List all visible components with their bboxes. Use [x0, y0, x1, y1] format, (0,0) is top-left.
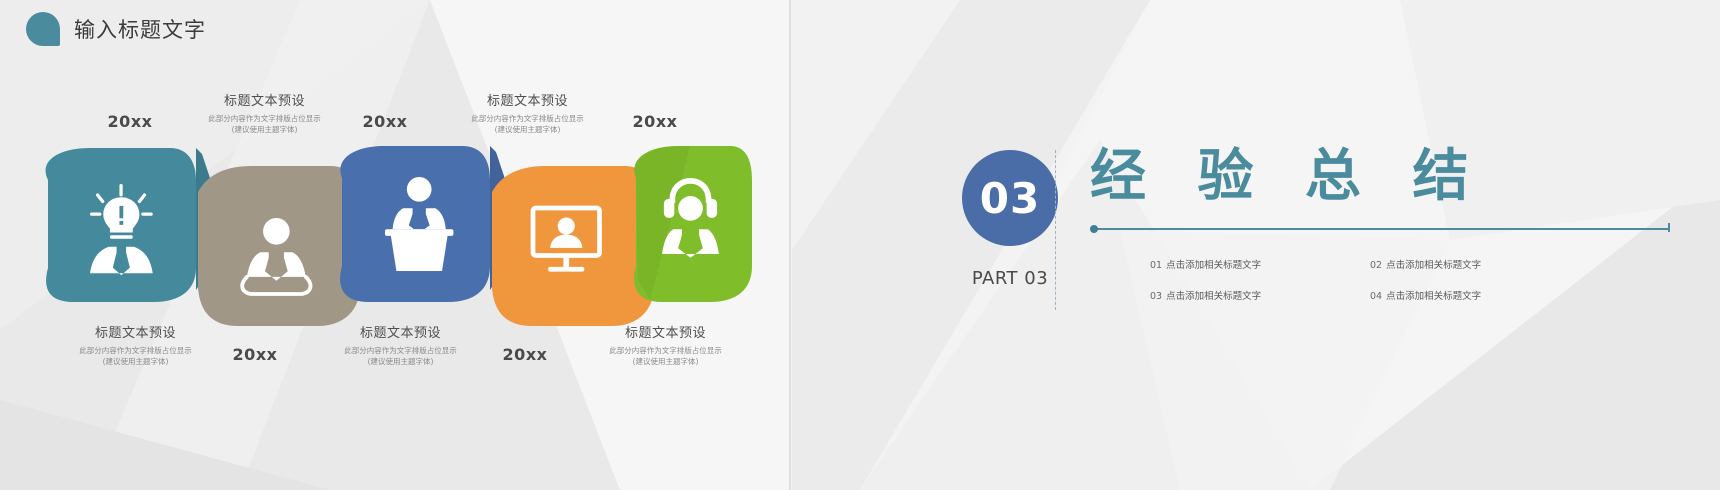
slide-header: 输入标题文字 — [26, 12, 206, 46]
section-title-block: 经 验 总 结 01点击添加相关标题文字 02点击添加相关标题文字 03点击添加… — [1090, 148, 1710, 302]
bullet-text: 点击添加相关标题文字 — [1166, 291, 1261, 302]
caption-text-3: 标题文本预设 此部分内容作为文字排版占位显示 (建议使用主题字体) — [313, 322, 488, 368]
caption-desc-line2: (建议使用主题字体) — [192, 124, 337, 135]
title-underline-rule — [1090, 225, 1670, 233]
year-label: 20xx — [600, 112, 710, 131]
part-label-text: PART 03 — [910, 268, 1110, 289]
caption-year-2: 20xx — [200, 345, 310, 364]
bullet-text: 点击添加相关标题文字 — [1166, 260, 1261, 271]
caption-desc-line2: (建议使用主题字体) — [578, 356, 753, 367]
caption-desc-line1: 此部分内容作为文字排版占位显示 — [48, 345, 223, 356]
section-title: 经 验 总 结 — [1090, 148, 1710, 207]
person-meditating-icon — [242, 218, 310, 294]
vertical-dashed-divider — [1055, 150, 1056, 310]
list-item[interactable]: 04点击添加相关标题文字 — [1370, 288, 1580, 302]
part-number-circle: 03 — [962, 150, 1058, 246]
caption-title: 标题文本预设 — [578, 322, 753, 341]
caption-title: 标题文本预设 — [313, 322, 488, 341]
presentation-screen-icon — [533, 208, 600, 272]
person-podium-icon — [385, 177, 453, 271]
year-label: 20xx — [200, 345, 310, 364]
caption-desc-line1: 此部分内容作为文字排版占位显示 — [313, 345, 488, 356]
year-label: 20xx — [330, 112, 440, 131]
person-lightbulb-icon — [90, 184, 153, 275]
bullet-text: 点击添加相关标题文字 — [1386, 291, 1481, 302]
bullet-number: 03 — [1150, 291, 1162, 302]
list-item[interactable]: 01点击添加相关标题文字 — [1150, 257, 1360, 271]
bullet-text: 点击添加相关标题文字 — [1386, 260, 1481, 271]
person-headset-icon — [662, 178, 719, 258]
left-infographic-panel: 20xx 标题文本预设 此部分内容作为文字排版占位显示 (建议使用主题字体) 2… — [0, 0, 790, 490]
caption-desc-line2: (建议使用主题字体) — [48, 356, 223, 367]
slide-canvas: 输入标题文字 20xx 标题文本预设 此部分内容作为文字排版占位显示 (建议使用… — [0, 0, 1720, 490]
caption-desc-line1: 此部分内容作为文字排版占位显示 — [455, 113, 600, 124]
teardrop-marker-icon — [26, 12, 60, 46]
panel-divider — [789, 0, 791, 490]
caption-desc-line2: (建议使用主题字体) — [455, 124, 600, 135]
caption-year-3: 20xx — [330, 112, 440, 131]
caption-desc-line2: (建议使用主题字体) — [313, 356, 488, 367]
caption-year-4: 20xx — [470, 345, 580, 364]
rule-end-tick-icon — [1668, 223, 1670, 232]
caption-text-5: 标题文本预设 此部分内容作为文字排版占位显示 (建议使用主题字体) — [578, 322, 753, 368]
caption-desc-line1: 此部分内容作为文字排版占位显示 — [578, 345, 753, 356]
caption-text-2: 标题文本预设 此部分内容作为文字排版占位显示 (建议使用主题字体) — [192, 90, 337, 136]
bullet-number: 01 — [1150, 260, 1162, 271]
bullet-list: 01点击添加相关标题文字 02点击添加相关标题文字 03点击添加相关标题文字 0… — [1090, 257, 1710, 302]
part-number-text: 03 — [980, 174, 1040, 223]
right-section-panel: 03 PART 03 经 验 总 结 01点击添加相关标题文字 02点击添加相关… — [790, 0, 1720, 490]
page-title: 输入标题文字 — [74, 14, 206, 44]
bullet-number: 02 — [1370, 260, 1382, 271]
list-item[interactable]: 03点击添加相关标题文字 — [1150, 288, 1360, 302]
year-label: 20xx — [470, 345, 580, 364]
caption-title: 标题文本预设 — [48, 322, 223, 341]
caption-title: 标题文本预设 — [192, 90, 337, 109]
list-item[interactable]: 02点击添加相关标题文字 — [1370, 257, 1580, 271]
bullet-number: 04 — [1370, 291, 1382, 302]
caption-text-4: 标题文本预设 此部分内容作为文字排版占位显示 (建议使用主题字体) — [455, 90, 600, 136]
caption-year-5: 20xx — [600, 112, 710, 131]
ribbon-icons-layer — [30, 140, 760, 340]
caption-text-1: 标题文本预设 此部分内容作为文字排版占位显示 (建议使用主题字体) — [48, 322, 223, 368]
year-label: 20xx — [75, 112, 185, 131]
rule-line — [1094, 228, 1670, 230]
caption-year-1: 20xx — [75, 112, 185, 131]
rule-start-dot-icon — [1090, 225, 1098, 233]
part-indicator: 03 PART 03 — [910, 150, 1110, 289]
caption-desc-line1: 此部分内容作为文字排版占位显示 — [192, 113, 337, 124]
caption-title: 标题文本预设 — [455, 90, 600, 109]
